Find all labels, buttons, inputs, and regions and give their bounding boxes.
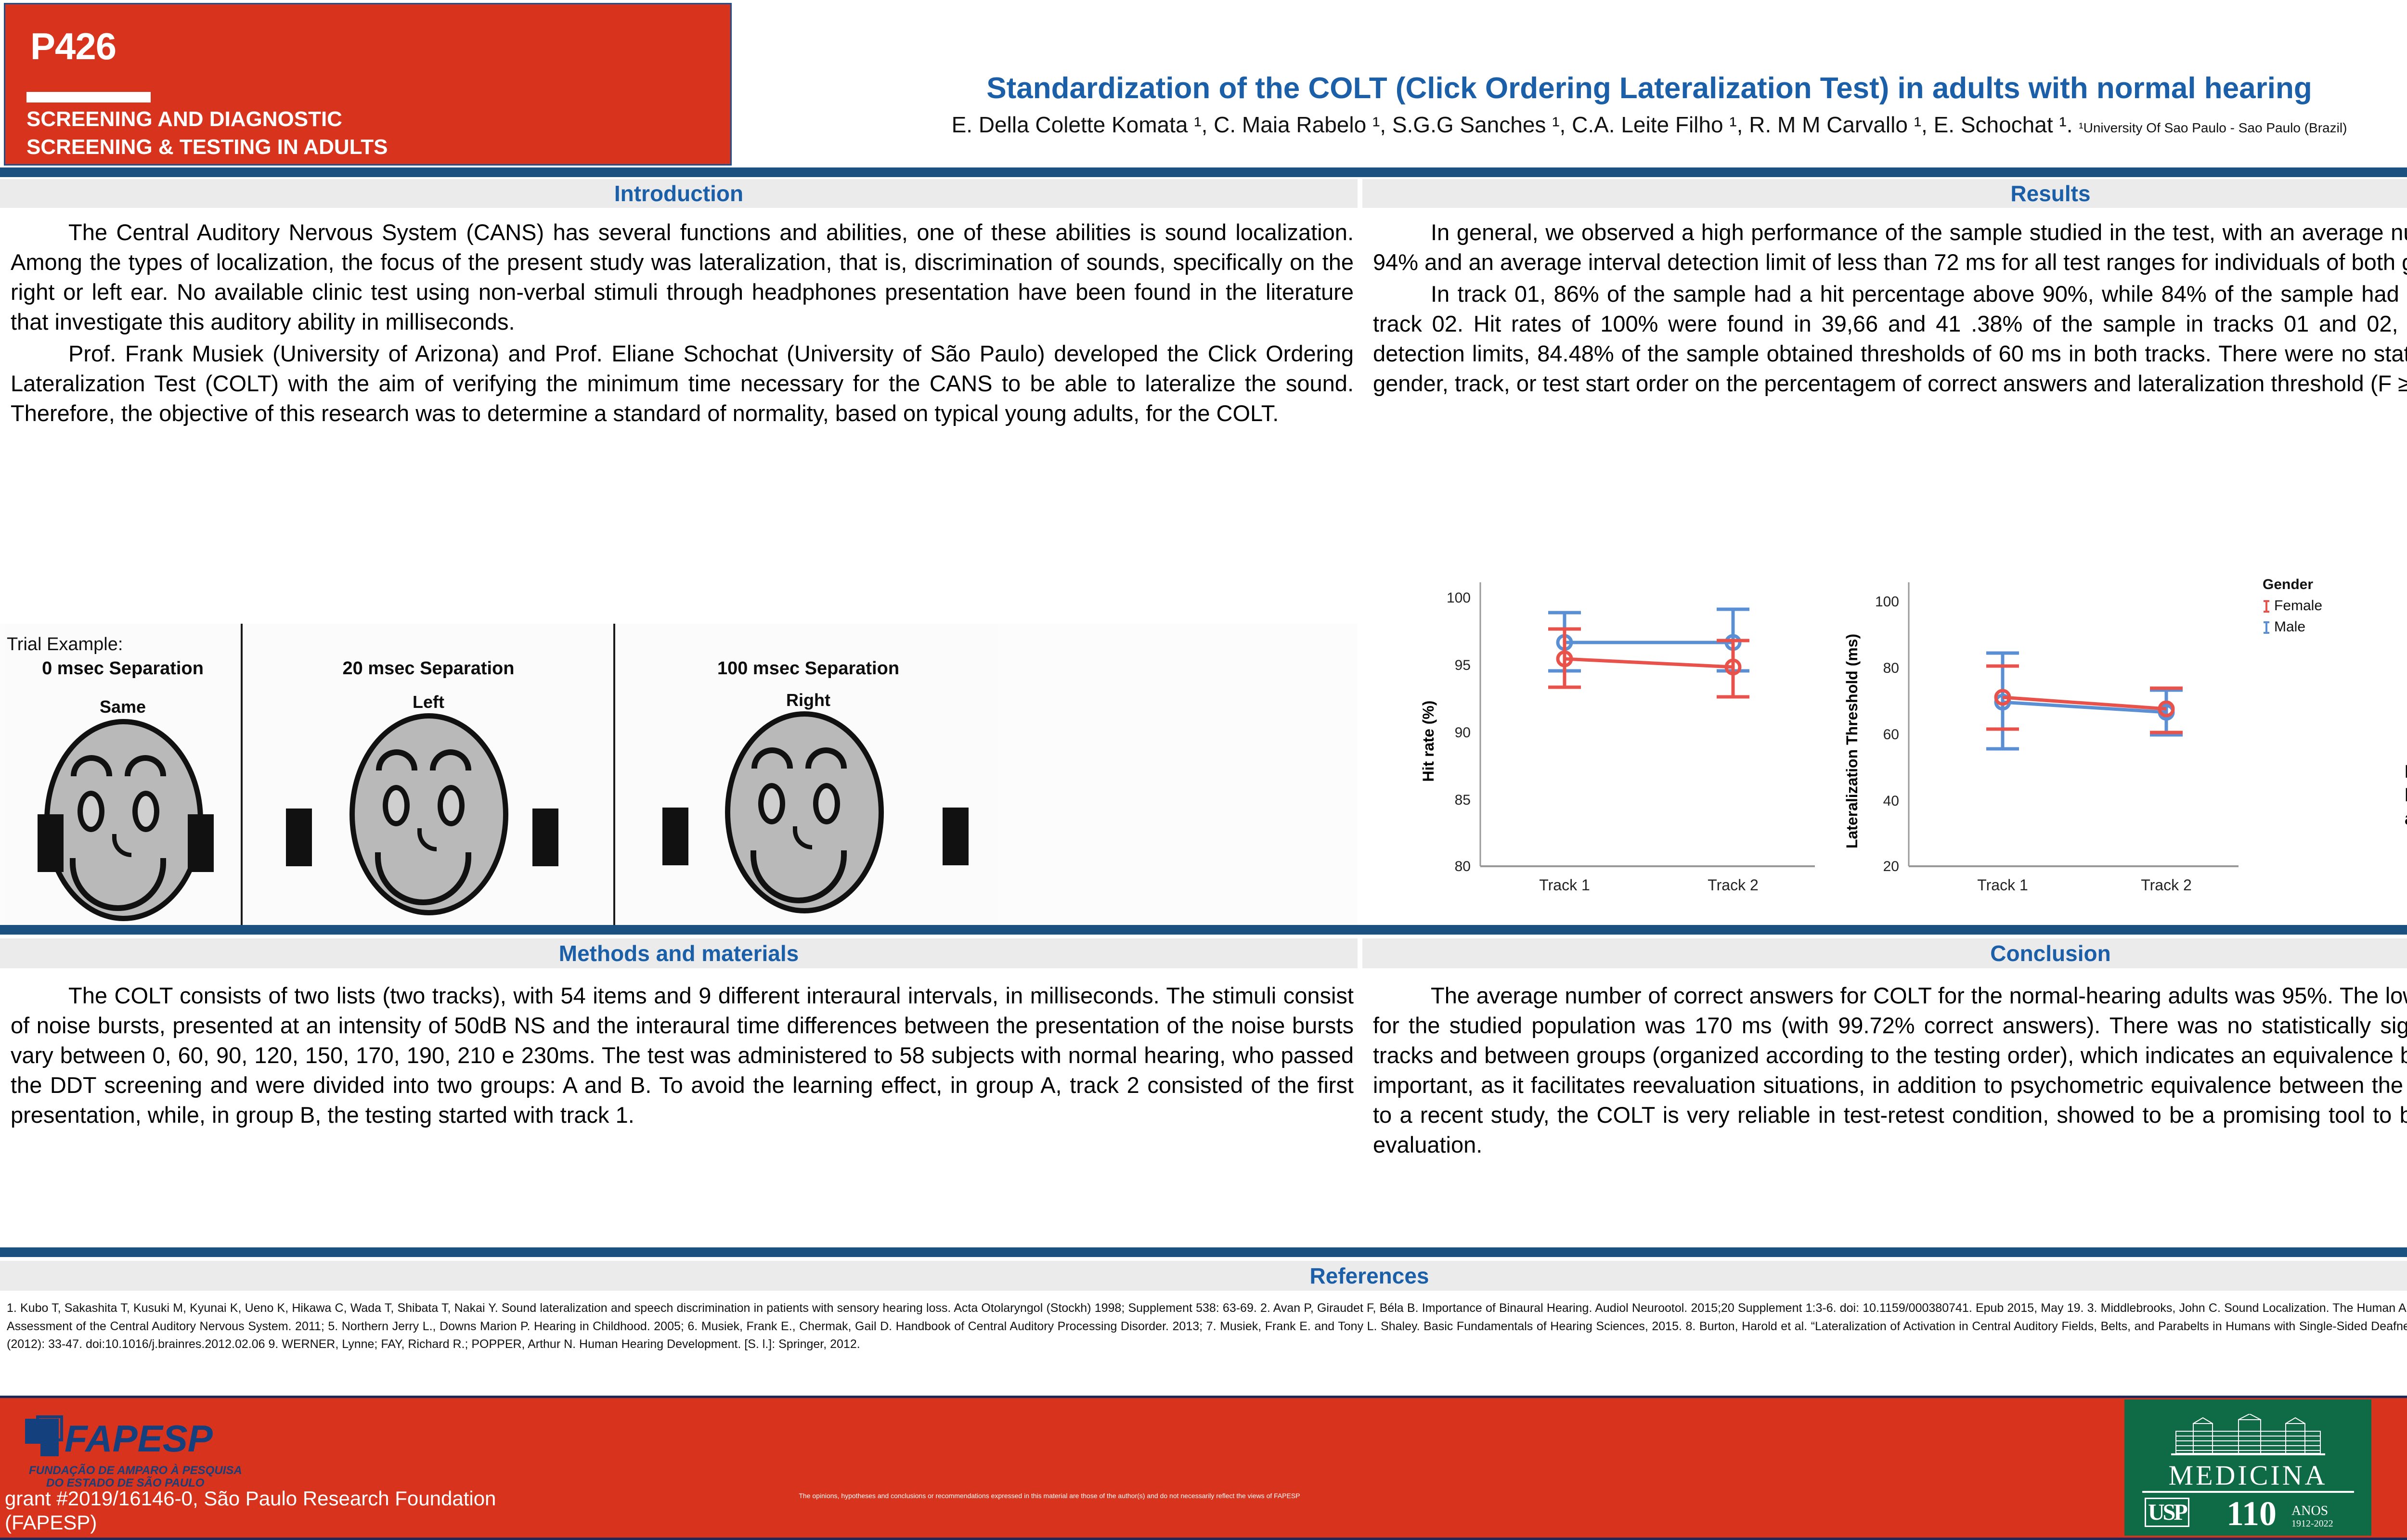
mouth-icon <box>70 858 166 911</box>
chart-hit-rate: 100 95 90 85 80 Hit rate (%) Track 1 Tra… <box>1406 582 1839 919</box>
trial-face-3 <box>725 711 884 913</box>
svg-text:Lateralization Threshold (ms): Lateralization Threshold (ms) <box>1843 634 1861 848</box>
section-heading-references: References <box>0 1261 2407 1291</box>
medicina-building-icon <box>2166 1414 2330 1459</box>
mid-section-rule <box>0 925 2407 935</box>
chart-lateralization-threshold: 100 80 60 40 20 Lateralization Threshold… <box>1815 582 2248 919</box>
medicina-anniversary-label: ANOS <box>2291 1503 2328 1519</box>
nose-icon <box>417 828 437 851</box>
fapesp-logo-icon: FAPESP <box>21 1410 223 1468</box>
grant-line-1: grant #2019/16146-0, São Paulo Research … <box>5 1487 496 1510</box>
svg-text:Track 1: Track 1 <box>1539 876 1590 894</box>
author-affiliation: ¹University Of Sao Paulo - Sao Paulo (Br… <box>2079 120 2347 135</box>
legend-female-marker-icon <box>2263 600 2270 613</box>
speaker-left-1-icon <box>38 814 64 872</box>
poster-code: P426 <box>30 25 116 68</box>
legend-male-label: Male <box>2274 619 2305 635</box>
speaker-left-3-icon <box>662 808 688 865</box>
funding-disclaimer: The opinions, hypotheses and conclusions… <box>712 1492 1386 1500</box>
references-top-rule <box>0 1247 2407 1257</box>
eye-left-icon <box>78 791 104 832</box>
svg-text:90: 90 <box>1455 725 1471 741</box>
eyebrow-left-icon <box>376 749 417 770</box>
trial-panel-3-lateralization: Right <box>618 690 998 710</box>
mouth-icon <box>751 850 847 903</box>
trial-panel-divider-1 <box>241 624 243 925</box>
trial-face-2 <box>349 713 508 915</box>
results-paragraph-1: In general, we observed a high performan… <box>1373 218 2407 277</box>
eye-left-icon <box>383 785 410 826</box>
header-bottom-rule <box>0 167 2407 177</box>
eye-right-icon <box>813 783 840 824</box>
usp-wordmark: USP <box>2145 1498 2189 1527</box>
header-divider-rule <box>26 92 151 103</box>
trial-panel-right: 100 msec Separation Right <box>618 624 998 925</box>
eyebrow-left-icon <box>71 755 112 776</box>
methods-body: The COLT consists of two lists (two trac… <box>11 981 1354 1132</box>
conclusion-paragraph-1: The average number of correct answers fo… <box>1373 981 2407 1160</box>
header-category-block: P426 SCREENING AND DIAGNOSTIC SCREENING … <box>4 3 732 166</box>
svg-text:95: 95 <box>1455 657 1471 673</box>
eye-right-icon <box>438 785 465 826</box>
svg-text:Track 2: Track 2 <box>1708 876 1759 894</box>
fapesp-subtitle-line1: FUNDAÇÃO DE AMPARO À PESQUISA <box>29 1464 242 1477</box>
eyebrow-right-icon <box>125 755 166 776</box>
legend-female-label: Female <box>2274 598 2322 614</box>
page-title: Standardization of the COLT (Click Order… <box>749 71 2407 105</box>
trial-panel-3-separation: 100 msec Separation <box>618 658 998 679</box>
eyebrow-left-icon <box>751 747 793 769</box>
speaker-right-2-icon <box>532 808 558 866</box>
section-heading-introduction: Introduction <box>0 179 1358 208</box>
header-category-line2: SCREENING & TESTING IN ADULTS <box>26 135 388 159</box>
section-heading-results: Results <box>1362 179 2407 208</box>
introduction-paragraph-2: Prof. Frank Musiek (University of Arizon… <box>11 339 1354 428</box>
poster-header: P426 SCREENING AND DIAGNOSTIC SCREENING … <box>0 0 2407 167</box>
trial-panel-same: 0 msec Separation Same <box>5 624 241 925</box>
svg-text:100: 100 <box>1875 594 1899 610</box>
svg-text:100: 100 <box>1447 590 1471 606</box>
eye-right-icon <box>132 791 159 832</box>
trial-example-label: Trial Example: <box>7 634 123 655</box>
header-category-line1: SCREENING AND DIAGNOSTIC <box>26 107 342 131</box>
mouth-icon <box>375 852 471 905</box>
poster-footer <box>0 1396 2407 1540</box>
legend-item-female: Female <box>2263 598 2322 614</box>
section-heading-methods: Methods and materials <box>0 938 1358 968</box>
legend-male-marker-icon <box>2263 621 2270 634</box>
section-heading-conclusion: Conclusion <box>1362 938 2407 968</box>
eyebrow-right-icon <box>805 747 847 769</box>
trial-panel-1-separation: 0 msec Separation <box>5 658 241 679</box>
speaker-left-2-icon <box>286 808 312 866</box>
nose-icon <box>793 826 812 849</box>
poster-root: P426 SCREENING AND DIAGNOSTIC SCREENING … <box>0 0 2407 1540</box>
medicina-wordmark: MEDICINA <box>2124 1459 2371 1491</box>
medicina-anniversary-years: 1912-2022 <box>2291 1518 2333 1529</box>
author-names: E. Della Colette Komata ¹, C. Maia Rabel… <box>952 112 2073 137</box>
fapesp-wordmark-text: FAPESP <box>65 1417 213 1460</box>
author-list: E. Della Colette Komata ¹, C. Maia Rabel… <box>749 112 2407 138</box>
eye-left-icon <box>758 783 785 824</box>
figure-caption: Figures 1 and 2. Mean hit rate and later… <box>2405 760 2407 831</box>
svg-text:60: 60 <box>1883 727 1899 743</box>
grant-line-2: (FAPESP) <box>5 1511 97 1534</box>
trial-panel-divider-2 <box>613 624 615 925</box>
speaker-right-3-icon <box>943 808 969 865</box>
svg-text:80: 80 <box>1883 660 1899 676</box>
trial-panel-2-lateralization: Left <box>246 692 611 712</box>
trial-panel-1-lateralization: Same <box>5 697 241 717</box>
results-paragraph-2: In track 01, 86% of the sample had a hit… <box>1373 279 2407 398</box>
svg-text:80: 80 <box>1455 859 1471 874</box>
trial-panel-left: 20 msec Separation Left <box>246 624 611 925</box>
svg-text:Track 2: Track 2 <box>2141 876 2192 894</box>
svg-text:Hit rate (%): Hit rate (%) <box>1420 701 1437 782</box>
references-body: 1. Kubo T, Sakashita T, Kusuki M, Kyunai… <box>7 1299 2407 1354</box>
trial-panel-2-separation: 20 msec Separation <box>246 658 611 679</box>
conclusion-body: The average number of correct answers fo… <box>1373 981 2407 1162</box>
legend-title: Gender <box>2263 577 2313 593</box>
svg-text:Track 1: Track 1 <box>1977 876 2028 894</box>
trial-face-1 <box>44 719 203 921</box>
speaker-right-1-icon <box>188 814 214 872</box>
medicina-anniversary-number: 110 <box>2226 1494 2277 1534</box>
svg-text:85: 85 <box>1455 792 1471 808</box>
introduction-body: The Central Auditory Nervous System (CAN… <box>11 218 1354 430</box>
introduction-paragraph-1: The Central Auditory Nervous System (CAN… <box>11 218 1354 337</box>
methods-paragraph-1: The COLT consists of two lists (two trac… <box>11 981 1354 1130</box>
results-body: In general, we observed a high performan… <box>1373 218 2407 400</box>
nose-icon <box>112 834 131 857</box>
medicina-divider-rule <box>2142 1491 2354 1493</box>
svg-text:40: 40 <box>1883 793 1899 809</box>
legend-item-male: Male <box>2263 619 2305 635</box>
svg-text:20: 20 <box>1883 859 1899 874</box>
eyebrow-right-icon <box>430 749 471 770</box>
